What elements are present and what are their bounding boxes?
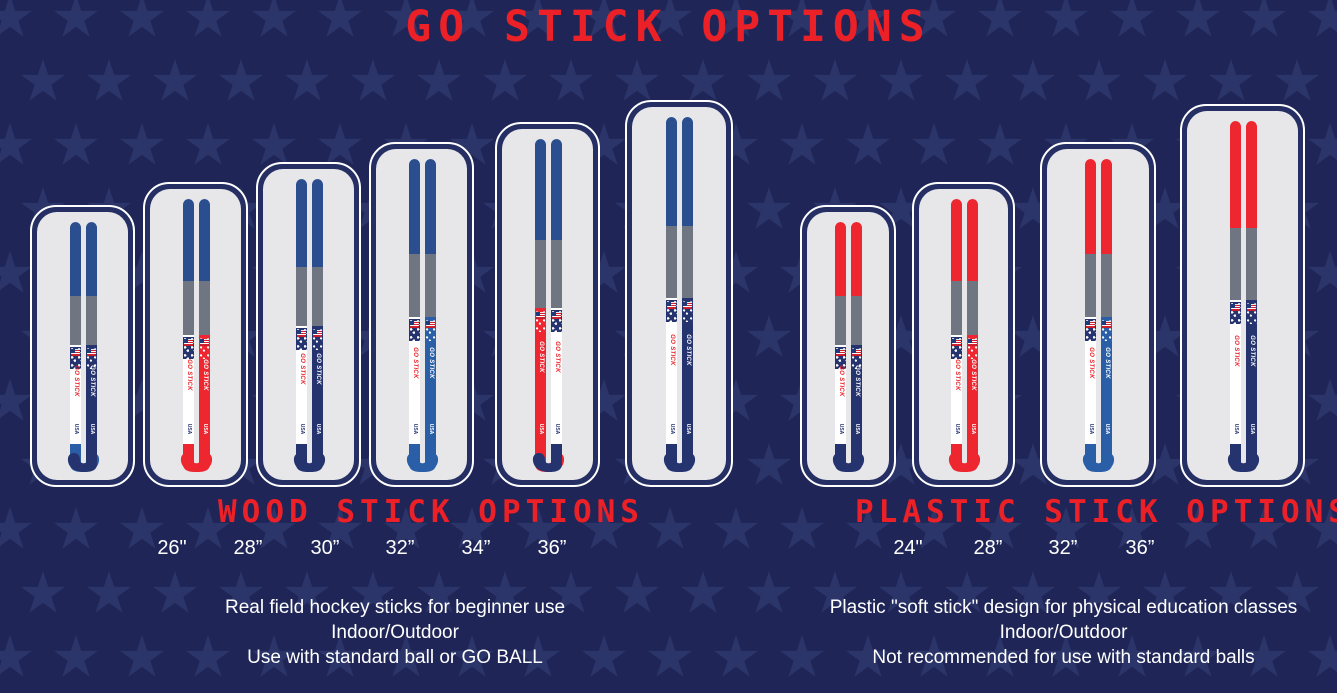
stick-midsection [86, 296, 97, 345]
stick-midsection [296, 267, 307, 326]
stick-usa-mark: USA [202, 424, 208, 435]
stick-head [663, 444, 693, 472]
stick-midsection [835, 296, 846, 345]
field-hockey-stick: GO STICKUSA [312, 179, 323, 472]
size-label-32in: 32” [1033, 538, 1093, 558]
usa-flag-decal [836, 349, 845, 356]
stick-body-decal: GO STICKUSA [409, 317, 420, 446]
field-hockey-stick: GO STICKUSA [535, 139, 546, 472]
stick-usa-mark: USA [954, 424, 960, 435]
background-star [1011, 59, 1055, 101]
usa-flag-decal [313, 330, 322, 337]
plastic-description-line: Not recommended for use with standard ba… [790, 645, 1337, 670]
stick-wordmark: GO STICK [299, 353, 305, 384]
stick-midsection [70, 296, 81, 345]
stick-head [406, 444, 436, 472]
stick-head-hook [1083, 444, 1112, 472]
field-hockey-stick: GO STICKUSA [835, 222, 846, 472]
size-label-36in: 36” [1110, 538, 1170, 558]
stick-usa-mark: USA [412, 424, 418, 435]
stick-head [180, 444, 210, 472]
stick-head-hook [407, 444, 436, 472]
stick-body-decal: GO STICKUSA [296, 326, 307, 446]
stick-head-hook [181, 444, 210, 472]
stick-grip [967, 199, 978, 281]
background-star [0, 123, 32, 165]
field-hockey-stick: GO STICKUSA [851, 222, 862, 472]
stick-wordmark: GO STICK [1233, 335, 1239, 366]
stick-midsection [551, 240, 562, 308]
stick-midsection [851, 296, 862, 345]
background-star [747, 443, 791, 485]
background-star [252, 123, 296, 165]
stick-usa-mark: USA [89, 424, 95, 435]
stick-midsection [1246, 228, 1257, 300]
usa-flag-decal [667, 302, 676, 309]
stick-midsection [967, 281, 978, 335]
stick-shaft: GO STICKUSA [967, 199, 978, 446]
stick-body-decal: GO STICKUSA [199, 335, 210, 446]
stick-wordmark: GO STICK [669, 334, 675, 365]
stick-grip [682, 117, 693, 226]
usa-flag-decal [297, 330, 306, 337]
stick-wordmark: GO STICK [538, 341, 544, 372]
stick-usa-mark: USA [428, 424, 434, 435]
field-hockey-stick: GO STICKUSA [1101, 159, 1112, 472]
stick-usa-mark: USA [1104, 424, 1110, 435]
card-interior: GO STICKUSAGO STICKUSA [1047, 149, 1149, 480]
field-hockey-stick: GO STICKUSA [183, 199, 194, 472]
stick-option-card-24in[interactable]: GO STICKUSAGO STICKUSA [800, 205, 896, 487]
background-star [318, 123, 362, 165]
background-star [0, 251, 32, 293]
stick-body-decal: GO STICKUSA [1101, 317, 1112, 446]
field-hockey-stick: GO STICKUSA [409, 159, 420, 472]
stick-grip [1101, 159, 1112, 254]
stick-head-hook [294, 444, 323, 472]
size-label-34in: 34” [446, 538, 506, 558]
background-star [1308, 123, 1337, 165]
background-star [219, 59, 263, 101]
stick-body-decal: GO STICKUSA [951, 335, 962, 446]
background-star [780, 123, 824, 165]
stick-usa-mark: USA [1088, 424, 1094, 435]
background-star [681, 59, 725, 101]
stick-head [293, 444, 323, 472]
stick-body-decal: GO STICKUSA [1085, 317, 1096, 446]
stick-usa-mark: USA [669, 424, 675, 435]
usa-flag-decal [200, 339, 209, 346]
stick-option-card-36in[interactable]: GO STICKUSAGO STICKUSA [1180, 104, 1305, 487]
stick-body-decal: GO STICKUSA [312, 326, 323, 446]
stick-body-decal: GO STICKUSA [535, 308, 546, 446]
background-star [1308, 251, 1337, 293]
background-star [120, 123, 164, 165]
stick-grip [951, 199, 962, 281]
stick-grip [296, 179, 307, 267]
stick-shaft: GO STICKUSA [296, 179, 307, 446]
stick-wordmark: GO STICK [954, 359, 960, 390]
stick-wordmark: GO STICK [854, 365, 860, 396]
stick-body-decal: GO STICKUSA [1246, 300, 1257, 446]
usa-flag-decal [968, 339, 977, 346]
field-hockey-stick: GO STICKUSA [967, 199, 978, 472]
stick-option-card-28in[interactable]: GO STICKUSAGO STICKUSA [912, 182, 1015, 487]
stick-head [532, 444, 562, 472]
background-star [417, 59, 461, 101]
stick-body-decal: GO STICKUSA [425, 317, 436, 446]
usa-flag-decal [683, 302, 692, 309]
stick-wordmark: GO STICK [1104, 347, 1110, 378]
stick-wordmark: GO STICK [1088, 347, 1094, 378]
background-star [714, 507, 758, 549]
stick-usa-mark: USA [1233, 424, 1239, 435]
stick-head [1082, 444, 1112, 472]
stick-shaft: GO STICKUSA [312, 179, 323, 446]
stick-shaft: GO STICKUSA [666, 117, 677, 446]
background-star [0, 379, 32, 421]
stick-grip [70, 222, 81, 296]
stick-wordmark: GO STICK [1249, 335, 1255, 366]
stick-midsection [199, 281, 210, 335]
field-hockey-stick: GO STICKUSA [682, 117, 693, 472]
stick-grip [199, 199, 210, 281]
background-star [780, 507, 824, 549]
field-hockey-stick: GO STICKUSA [1246, 121, 1257, 472]
stick-head-hook [833, 444, 862, 472]
stick-usa-mark: USA [970, 424, 976, 435]
stick-head-hook [664, 444, 693, 472]
usa-flag-decal [1086, 321, 1095, 328]
stick-shaft: GO STICKUSA [551, 139, 562, 446]
background-star [87, 59, 131, 101]
wood-description: Real field hockey sticks for beginner us… [0, 595, 790, 670]
plastic-description-line: Indoor/Outdoor [790, 620, 1337, 645]
stick-grip [535, 139, 546, 240]
stick-shaft: GO STICKUSA [535, 139, 546, 446]
stick-shaft: GO STICKUSA [682, 117, 693, 446]
field-hockey-stick: GO STICKUSA [296, 179, 307, 472]
background-star [1143, 59, 1187, 101]
stick-shaft: GO STICKUSA [183, 199, 194, 446]
stick-usa-mark: USA [838, 424, 844, 435]
stick-body-decal: GO STICKUSA [967, 335, 978, 446]
usa-flag-decal [1102, 321, 1111, 328]
stick-usa-mark: USA [538, 424, 544, 435]
stick-shaft: GO STICKUSA [70, 222, 81, 446]
stick-shaft: GO STICKUSA [1101, 159, 1112, 446]
stick-midsection [425, 254, 436, 317]
stick-grip [666, 117, 677, 226]
card-interior: GO STICKUSAGO STICKUSA [502, 129, 593, 480]
stick-grip [1085, 159, 1096, 254]
field-hockey-stick: GO STICKUSA [666, 117, 677, 472]
size-label-28in: 28” [958, 538, 1018, 558]
card-interior: GO STICKUSAGO STICKUSA [1187, 111, 1298, 480]
field-hockey-stick: GO STICKUSA [551, 139, 562, 472]
stick-body-decal: GO STICKUSA [551, 308, 562, 446]
field-hockey-stick: GO STICKUSA [425, 159, 436, 472]
stick-body-decal: GO STICKUSA [851, 345, 862, 446]
stick-midsection [409, 254, 420, 317]
background-star [483, 59, 527, 101]
background-star [0, 507, 32, 549]
stick-option-card-36in[interactable]: GO STICKUSAGO STICKUSA [625, 100, 733, 487]
size-label-36in: 36” [522, 538, 582, 558]
stick-body-decal: GO STICKUSA [666, 298, 677, 446]
stick-grip [851, 222, 862, 296]
background-star [912, 123, 956, 165]
stick-shaft: GO STICKUSA [1246, 121, 1257, 446]
stick-wordmark: GO STICK [554, 341, 560, 372]
stick-option-card-30in[interactable]: GO STICKUSAGO STICKUSA [256, 162, 361, 487]
usa-flag-decal [426, 321, 435, 328]
card-interior: GO STICKUSAGO STICKUSA [376, 149, 467, 480]
stick-midsection [1101, 254, 1112, 317]
stick-option-card-34in[interactable]: GO STICKUSAGO STICKUSA [495, 122, 600, 487]
poster-root: GO STICK OPTIONS GO STICKUSAGO STICKUSAG… [0, 0, 1337, 693]
page-title: GO STICK OPTIONS [0, 6, 1337, 49]
stick-option-card-32in[interactable]: GO STICKUSAGO STICKUSA [369, 142, 474, 487]
background-star [1275, 59, 1319, 101]
stick-body-decal: GO STICKUSA [835, 345, 846, 446]
stick-shaft: GO STICKUSA [851, 222, 862, 446]
background-star [21, 59, 65, 101]
background-star [54, 123, 98, 165]
stick-grip [409, 159, 420, 254]
size-label-24in: 24" [878, 538, 938, 558]
wood-description-line: Real field hockey sticks for beginner us… [0, 595, 790, 620]
stick-wordmark: GO STICK [186, 359, 192, 390]
background-star [846, 123, 890, 165]
usa-flag-decal [536, 312, 545, 319]
usa-flag-decal [71, 349, 80, 356]
size-label-28in: 28” [218, 538, 278, 558]
stick-wordmark: GO STICK [685, 334, 691, 365]
background-star [1209, 59, 1253, 101]
stick-wordmark: GO STICK [838, 365, 844, 396]
stick-head [832, 444, 862, 472]
stick-wordmark: GO STICK [202, 359, 208, 390]
stick-midsection [951, 281, 962, 335]
stick-head-hook [533, 444, 562, 472]
stick-head [948, 444, 978, 472]
size-label-26in: 26" [142, 538, 202, 558]
stick-grip [835, 222, 846, 296]
stick-wordmark: GO STICK [89, 365, 95, 396]
stick-shaft: GO STICKUSA [1230, 121, 1241, 446]
background-star [1077, 59, 1121, 101]
stick-shaft: GO STICKUSA [425, 159, 436, 446]
stick-usa-mark: USA [854, 424, 860, 435]
stick-shaft: GO STICKUSA [409, 159, 420, 446]
stick-shaft: GO STICKUSA [835, 222, 846, 446]
field-hockey-stick: GO STICKUSA [1085, 159, 1096, 472]
stick-midsection [666, 226, 677, 298]
usa-flag-decal [852, 349, 861, 356]
usa-flag-decal [552, 312, 561, 319]
stick-option-card-26in[interactable]: GO STICKUSAGO STICKUSA [30, 205, 135, 487]
stick-grip [1246, 121, 1257, 228]
usa-flag-decal [184, 339, 193, 346]
background-star [54, 507, 98, 549]
stick-midsection [682, 226, 693, 298]
stick-grip [1230, 121, 1241, 228]
stick-shaft: GO STICKUSA [199, 199, 210, 446]
card-interior: GO STICKUSAGO STICKUSA [263, 169, 354, 480]
size-label-30in: 30” [295, 538, 355, 558]
background-star [1308, 379, 1337, 421]
usa-flag-decal [1231, 304, 1240, 311]
wood-description-line: Use with standard ball or GO BALL [0, 645, 790, 670]
field-hockey-stick: GO STICKUSA [951, 199, 962, 472]
background-star [285, 59, 329, 101]
background-star [186, 123, 230, 165]
background-star [813, 59, 857, 101]
stick-grip [86, 222, 97, 296]
usa-flag-decal [1247, 304, 1256, 311]
usa-flag-decal [87, 349, 96, 356]
stick-shaft: GO STICKUSA [1085, 159, 1096, 446]
card-interior: GO STICKUSAGO STICKUSA [37, 212, 128, 480]
field-hockey-stick: GO STICKUSA [70, 222, 81, 472]
background-star [549, 59, 593, 101]
stick-midsection [535, 240, 546, 308]
stick-head-hook [1228, 444, 1257, 472]
usa-flag-decal [410, 321, 419, 328]
background-star [648, 507, 692, 549]
card-interior: GO STICKUSAGO STICKUSA [150, 189, 241, 480]
stick-usa-mark: USA [186, 424, 192, 435]
usa-flag-decal [952, 339, 961, 346]
background-star [945, 59, 989, 101]
stick-body-decal: GO STICKUSA [183, 335, 194, 446]
card-interior: GO STICKUSAGO STICKUSA [919, 189, 1008, 480]
stick-midsection [1085, 254, 1096, 317]
stick-usa-mark: USA [1249, 424, 1255, 435]
stick-head-hook [68, 444, 97, 472]
background-star [153, 59, 197, 101]
field-hockey-stick: GO STICKUSA [86, 222, 97, 472]
stick-body-decal: GO STICKUSA [86, 345, 97, 446]
stick-grip [551, 139, 562, 240]
background-star [747, 187, 791, 229]
stick-wordmark: GO STICK [412, 347, 418, 378]
stick-head [67, 444, 97, 472]
stick-usa-mark: USA [685, 424, 691, 435]
field-hockey-stick: GO STICKUSA [1230, 121, 1241, 472]
stick-grip [425, 159, 436, 254]
stick-grip [312, 179, 323, 267]
card-interior: GO STICKUSAGO STICKUSA [632, 107, 726, 480]
stick-body-decal: GO STICKUSA [682, 298, 693, 446]
background-star [747, 59, 791, 101]
background-star [747, 315, 791, 357]
stick-head [1227, 444, 1257, 472]
stick-shaft: GO STICKUSA [86, 222, 97, 446]
stick-midsection [183, 281, 194, 335]
stick-wordmark: GO STICK [428, 347, 434, 378]
stick-grip [183, 199, 194, 281]
background-star [615, 59, 659, 101]
plastic-description: Plastic "soft stick" design for physical… [790, 595, 1337, 670]
stick-option-card-28in[interactable]: GO STICKUSAGO STICKUSA [143, 182, 248, 487]
stick-midsection [312, 267, 323, 326]
background-star [879, 59, 923, 101]
stick-midsection [1230, 228, 1241, 300]
stick-body-decal: GO STICKUSA [1230, 300, 1241, 446]
size-label-32in: 32” [370, 538, 430, 558]
background-star [351, 59, 395, 101]
stick-usa-mark: USA [554, 424, 560, 435]
stick-wordmark: GO STICK [315, 353, 321, 384]
stick-option-card-32in[interactable]: GO STICKUSAGO STICKUSA [1040, 142, 1156, 487]
stick-shaft: GO STICKUSA [951, 199, 962, 446]
wood-description-line: Indoor/Outdoor [0, 620, 790, 645]
stick-body-decal: GO STICKUSA [70, 345, 81, 446]
plastic-section-heading: PLASTIC STICK OPTIONS [855, 497, 1337, 528]
stick-usa-mark: USA [299, 424, 305, 435]
card-interior: GO STICKUSAGO STICKUSA [807, 212, 889, 480]
stick-wordmark: GO STICK [73, 365, 79, 396]
stick-usa-mark: USA [315, 424, 321, 435]
wood-section-heading: WOOD STICK OPTIONS [218, 497, 644, 528]
stick-wordmark: GO STICK [970, 359, 976, 390]
plastic-description-line: Plastic "soft stick" design for physical… [790, 595, 1337, 620]
background-star [978, 123, 1022, 165]
stick-head-hook [949, 444, 978, 472]
stick-usa-mark: USA [73, 424, 79, 435]
field-hockey-stick: GO STICKUSA [199, 199, 210, 472]
